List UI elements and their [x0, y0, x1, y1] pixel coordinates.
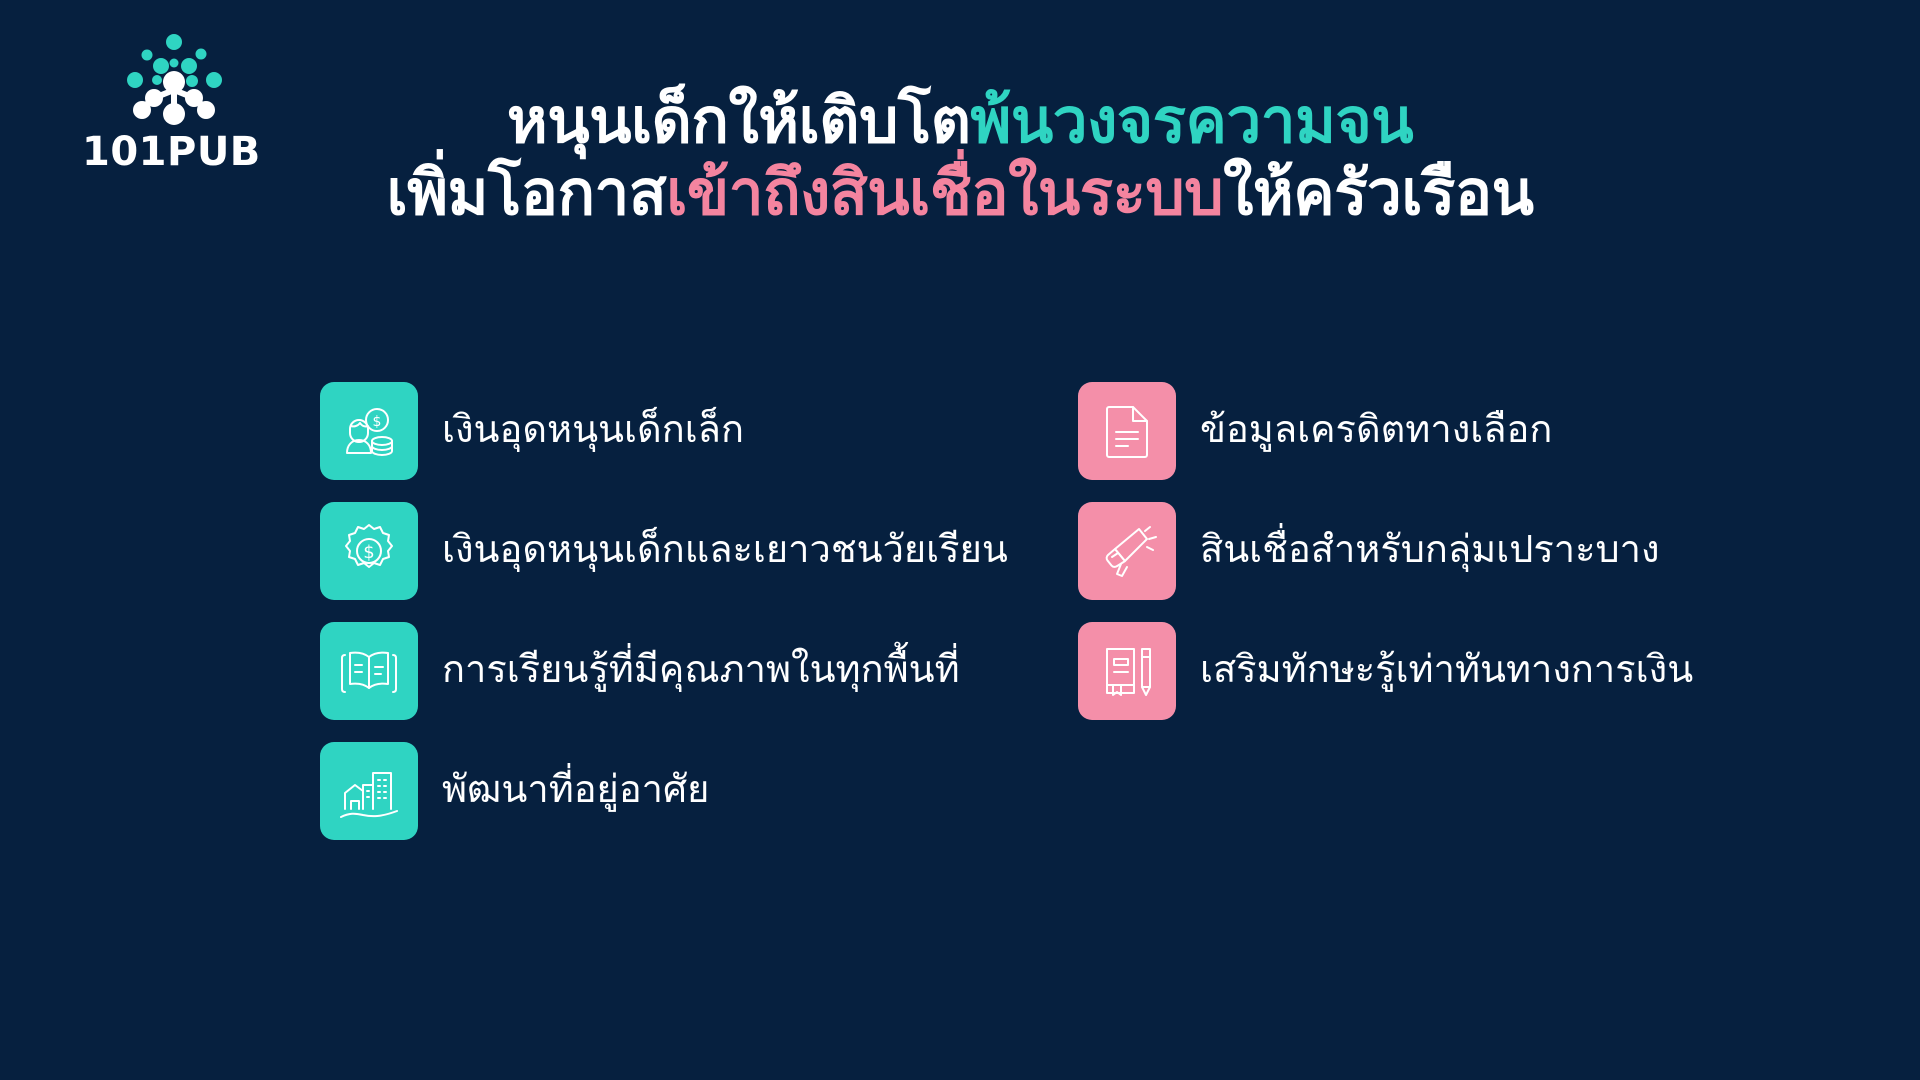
headline-line2-highlight: เข้าถึงสินเชื่อในระบบ: [666, 159, 1223, 228]
gear-dollar-icon: $: [320, 502, 418, 600]
list-item[interactable]: ข้อมูลเครดิตทางเลือก: [1078, 382, 1693, 480]
left-feature-list: $ เงินอุดหนุนเด็กเล็ก $ เงินอุด: [320, 382, 1008, 840]
list-item[interactable]: พัฒนาที่อยู่อาศัย: [320, 742, 1008, 840]
headline-line-2: เพิ่มโอกาสเข้าถึงสินเชื่อในระบบให้ครัวเร…: [250, 158, 1670, 230]
book-pencil-icon: [1078, 622, 1176, 720]
list-item[interactable]: $ เงินอุดหนุนเด็กเล็ก: [320, 382, 1008, 480]
list-item[interactable]: $ เงินอุดหนุนเด็กและเยาวชนวัยเรียน: [320, 502, 1008, 600]
megaphone-icon: [1078, 502, 1176, 600]
document-lines-icon: [1078, 382, 1176, 480]
headline-line-1: หนุนเด็กให้เติบโตพ้นวงจรความจน: [250, 86, 1670, 158]
headline-line1-highlight: พ้นวงจรความจน: [971, 87, 1414, 156]
network-nodes-icon: [104, 32, 244, 134]
list-item-label: เงินอุดหนุนเด็กเล็ก: [442, 410, 744, 452]
headline-line2-white-start: เพิ่มโอกาส: [387, 159, 667, 228]
list-item-label: สินเชื่อสำหรับกลุ่มเปราะบาง: [1200, 530, 1660, 572]
list-item-label: พัฒนาที่อยู่อาศัย: [442, 770, 709, 812]
page-title: หนุนเด็กให้เติบโตพ้นวงจรความจน เพิ่มโอกา…: [250, 86, 1670, 230]
svg-text:$: $: [363, 542, 374, 563]
list-item-label: ข้อมูลเครดิตทางเลือก: [1200, 410, 1552, 452]
svg-text:$: $: [373, 414, 382, 430]
list-item[interactable]: เสริมทักษะรู้เท่าทันทางการเงิน: [1078, 622, 1693, 720]
person-coins-icon: $: [320, 382, 418, 480]
list-item-label: เสริมทักษะรู้เท่าทันทางการเงิน: [1200, 650, 1693, 692]
logo: 101PUB: [82, 32, 272, 172]
infographic-canvas: 101PUB หนุนเด็กให้เติบโตพ้นวงจรความจน เพ…: [0, 0, 1920, 1080]
right-feature-list: ข้อมูลเครดิตทางเลือก สินเชื่อสำหรับกลุ่ม…: [1078, 382, 1693, 720]
headline-line1-white: หนุนเด็กให้เติบโต: [507, 87, 971, 156]
buildings-house-icon: [320, 742, 418, 840]
list-item[interactable]: การเรียนรู้ที่มีคุณภาพในทุกพื้นที่: [320, 622, 1008, 720]
list-item-label: การเรียนรู้ที่มีคุณภาพในทุกพื้นที่: [442, 650, 960, 692]
list-item-label: เงินอุดหนุนเด็กและเยาวชนวัยเรียน: [442, 530, 1008, 572]
open-book-icon: [320, 622, 418, 720]
headline-line2-white-end: ให้ครัวเรือน: [1223, 159, 1533, 228]
list-item[interactable]: สินเชื่อสำหรับกลุ่มเปราะบาง: [1078, 502, 1693, 600]
logo-wordmark: 101PUB: [82, 132, 272, 172]
